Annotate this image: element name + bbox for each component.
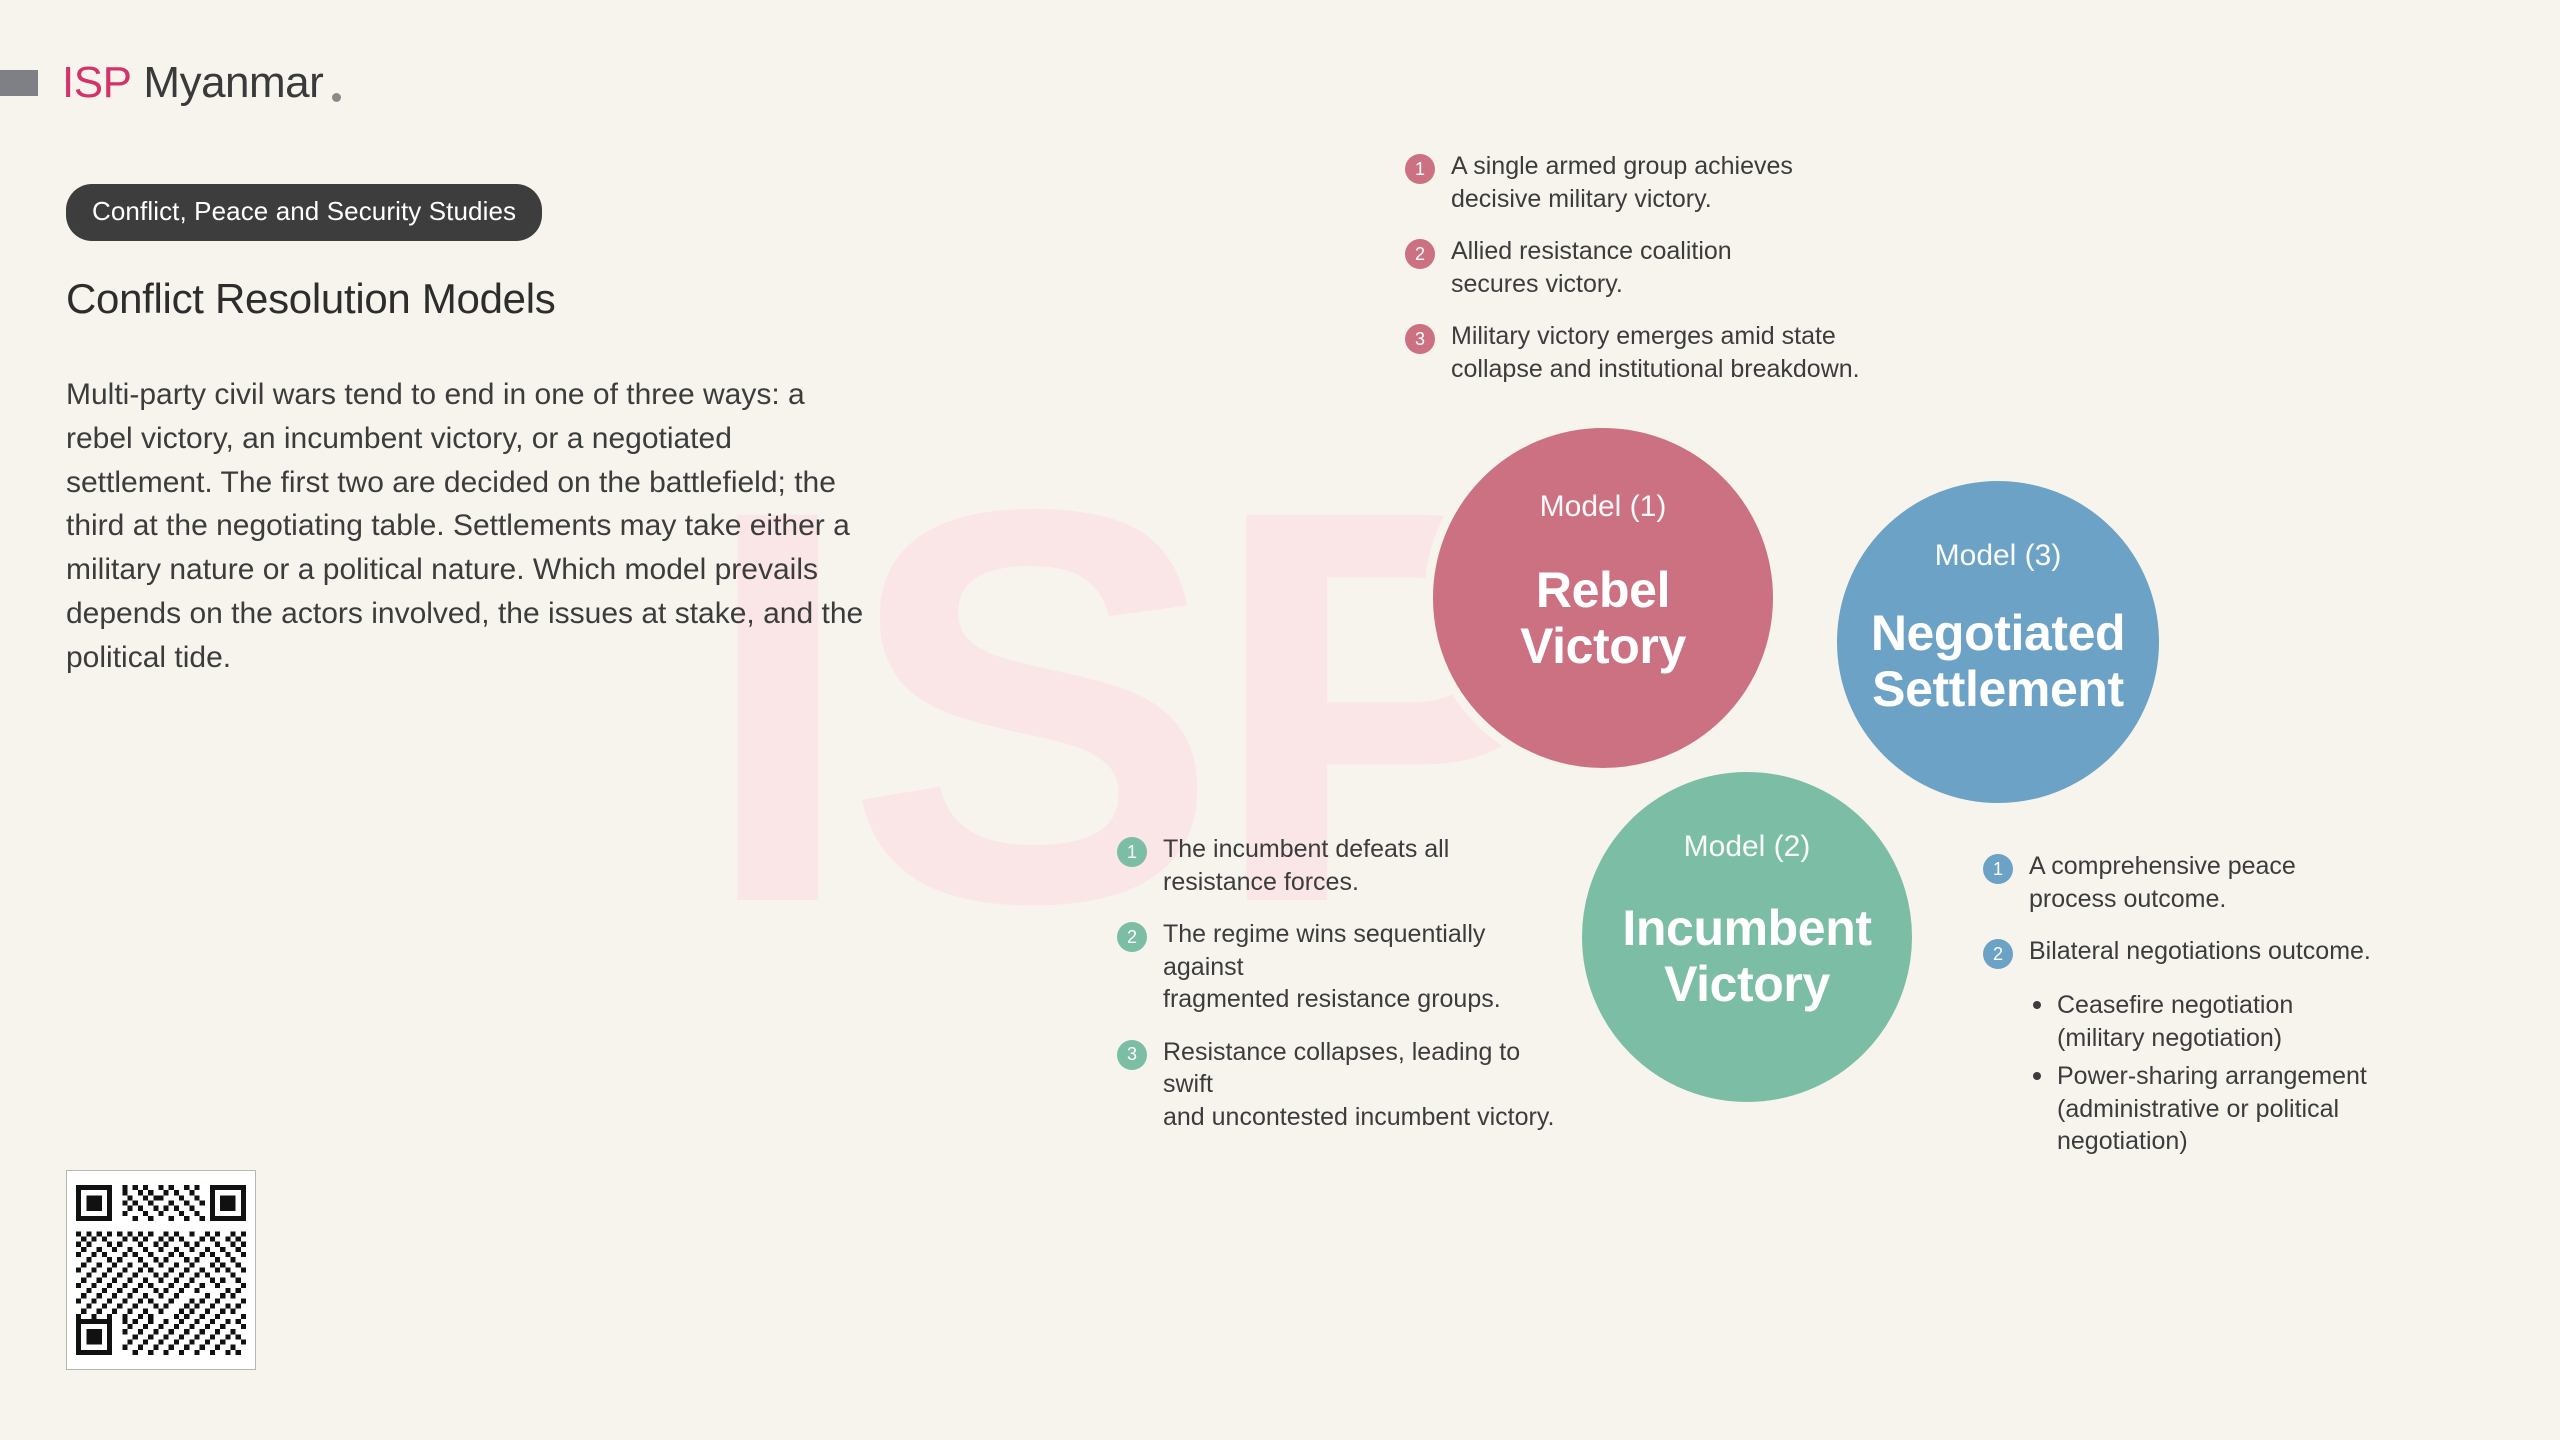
logo-dot-icon [332,93,341,102]
list-item: 2 Allied resistance coalition secures vi… [1405,235,1875,300]
model-circle-rebel-victory[interactable]: Model (1) Rebel Victory [1424,419,1782,777]
list-number-badge: 3 [1405,324,1435,354]
intro-paragraph: Multi-party civil wars tend to end in on… [66,373,866,680]
qr-code[interactable] [66,1170,256,1370]
list-number-badge: 1 [1117,837,1147,867]
incumbent-victory-list: 1 The incumbent defeats all resistance f… [1117,833,1557,1153]
list-number-badge: 1 [1983,854,2013,884]
list-item-text: A comprehensive peace process outcome. [2029,850,2296,915]
model-title: Negotiated Settlement [1871,605,2125,717]
list-number-badge: 1 [1405,154,1435,184]
model-label: Model (3) [1935,539,2062,573]
page-title: Conflict Resolution Models [66,275,896,323]
list-number-badge: 2 [1117,922,1147,952]
rebel-victory-list: 1 A single armed group achieves decisive… [1405,150,1875,405]
list-number-badge: 2 [1983,939,2013,969]
model-circle-negotiated-settlement[interactable]: Model (3) Negotiated Settlement [1828,472,2168,812]
list-item: 3 Military victory emerges amid state co… [1405,320,1875,385]
list-number-badge: 2 [1405,239,1435,269]
logo-wordmark: ISP Myanmar [62,58,341,108]
model-title: Rebel Victory [1520,562,1686,674]
list-item-text: The incumbent defeats all resistance for… [1163,833,1449,898]
list-item-text: A single armed group achieves decisive m… [1451,150,1793,215]
list-item-text: Resistance collapses, leading to swift a… [1163,1036,1557,1134]
list-number-badge: 3 [1117,1040,1147,1070]
list-item-text: Bilateral negotiations outcome. [2029,935,2371,968]
list-item-text: The regime wins sequentially against fra… [1163,918,1557,1016]
list-item: 2 The regime wins sequentially against f… [1117,918,1557,1016]
sub-list-item: Ceasefire negotiation (military negotiat… [2033,989,2453,1054]
list-item-text: Allied resistance coalition secures vict… [1451,235,1732,300]
list-item: 1 The incumbent defeats all resistance f… [1117,833,1557,898]
model-circle-incumbent-victory[interactable]: Model (2) Incumbent Victory [1573,763,1921,1111]
logo-myanmar-text: Myanmar [143,58,323,108]
model-label: Model (1) [1540,490,1667,524]
logo-square-icon [0,70,38,96]
qr-code-image [76,1180,246,1360]
list-item: 1 A single armed group achieves decisive… [1405,150,1875,215]
intro-column: Conflict, Peace and Security Studies Con… [66,184,896,680]
list-item: 2 Bilateral negotiations outcome. [1983,935,2453,969]
negotiated-settlement-list: 1 A comprehensive peace process outcome.… [1983,850,2453,1164]
negotiated-sub-list: Ceasefire negotiation (military negotiat… [2033,989,2453,1158]
logo-isp-text: ISP [62,58,131,108]
list-item: 3 Resistance collapses, leading to swift… [1117,1036,1557,1134]
model-label: Model (2) [1684,830,1811,864]
category-badge: Conflict, Peace and Security Studies [66,184,542,241]
list-item-text: Military victory emerges amid state coll… [1451,320,1860,385]
sub-list-item: Power-sharing arrangement (administrativ… [2033,1060,2453,1158]
list-item: 1 A comprehensive peace process outcome. [1983,850,2453,915]
brand-logo: ISP Myanmar [0,58,341,108]
model-title: Incumbent Victory [1622,900,1871,1012]
